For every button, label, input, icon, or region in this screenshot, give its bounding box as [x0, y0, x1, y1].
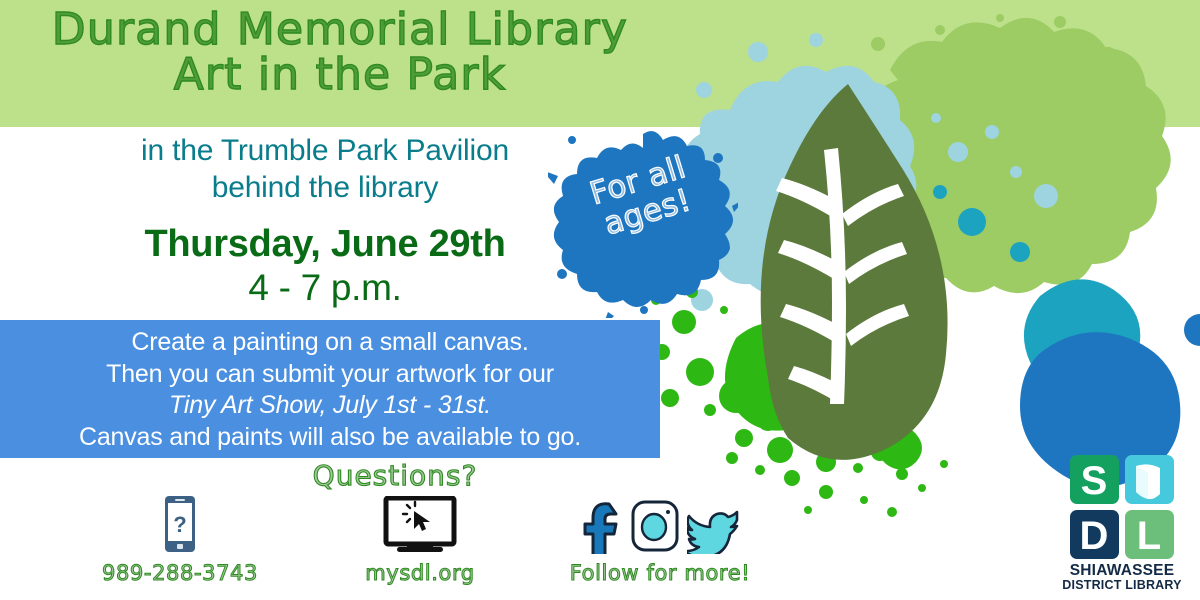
- page-title: Durand Memorial Library Art in the Park: [0, 8, 680, 98]
- sdl-word-district-library: DISTRICT LIBRARY: [1062, 579, 1181, 592]
- questions-label: Questions?: [180, 459, 610, 492]
- sdl-word-shiawassee: SHIAWASSEE: [1062, 563, 1181, 579]
- monitor-cursor-icon: [383, 492, 457, 554]
- facebook-icon: [579, 498, 623, 554]
- sdl-logo: S D L SHIAWASSEE DISTRICT LIBRARY: [1062, 455, 1182, 592]
- contact-website[interactable]: mysdl.org: [310, 492, 530, 585]
- instagram-icon: [629, 498, 681, 554]
- twitter-icon: [687, 498, 741, 554]
- svg-text:?: ?: [173, 512, 186, 537]
- bright-green-splat: [651, 286, 948, 517]
- website-url: mysdl.org: [365, 561, 475, 585]
- for-all-ages-badge: For all ages!: [548, 128, 738, 318]
- teal-blob: [933, 185, 1140, 394]
- svg-text:D: D: [1080, 514, 1109, 558]
- phone-number: 989-288-3743: [102, 561, 258, 585]
- activity-line-4: Canvas and paints will also be available…: [79, 422, 581, 454]
- smartphone-question-icon: ?: [163, 492, 197, 554]
- activity-description-box: Create a painting on a small canvas. The…: [0, 320, 660, 458]
- flyer-canvas: Durand Memorial Library Art in the Park …: [0, 0, 1200, 600]
- activity-line-3: Tiny Art Show, July 1st - 31st.: [169, 390, 491, 422]
- svg-text:S: S: [1081, 459, 1108, 503]
- svg-text:L: L: [1137, 514, 1161, 558]
- leaf-shape: [761, 84, 948, 460]
- contact-row: ? 989-288-3743: [70, 492, 770, 585]
- leaf-veins: [776, 148, 909, 404]
- social-media-icons: [579, 492, 741, 554]
- social-caption: Follow for more!: [570, 561, 751, 585]
- title-line-1: Durand Memorial Library: [0, 8, 680, 53]
- activity-line-2: Then you can submit your artwork for our: [106, 359, 554, 391]
- title-line-2: Art in the Park: [0, 53, 680, 98]
- activity-line-1: Create a painting on a small canvas.: [131, 327, 528, 359]
- contact-social[interactable]: Follow for more!: [550, 492, 770, 585]
- sdl-logo-tiles: S D L: [1070, 455, 1174, 559]
- contact-phone[interactable]: ? 989-288-3743: [70, 492, 290, 585]
- sdl-wordmark: SHIAWASSEE DISTRICT LIBRARY: [1062, 563, 1181, 592]
